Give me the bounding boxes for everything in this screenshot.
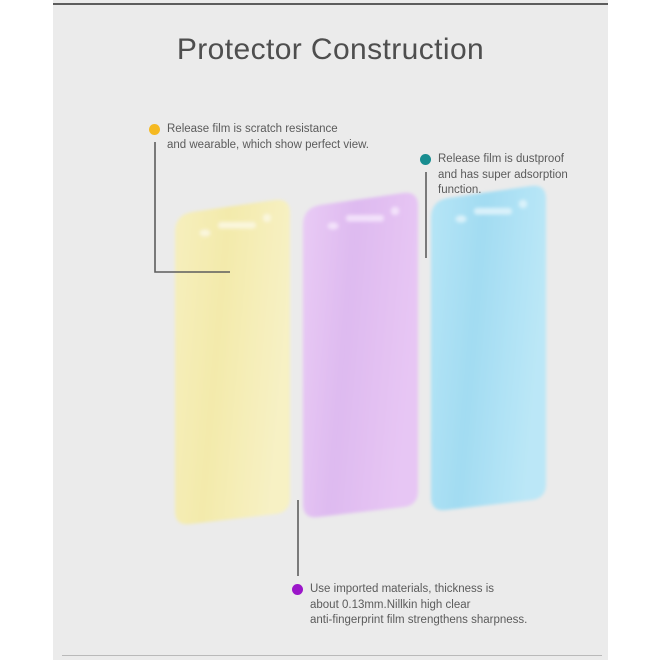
purple-film-layer [303, 193, 418, 517]
yellow-bullet-icon [149, 124, 160, 135]
callout-imported-materials: Use imported materials, thickness is abo… [292, 582, 592, 629]
callout-text: Release film is scratch resistance and w… [167, 122, 369, 153]
screenshot-root: Protector Construction [0, 0, 660, 660]
purple-bullet-icon [292, 584, 303, 595]
teal-bullet-icon [420, 154, 431, 165]
protector-layers-illustration [0, 0, 660, 660]
blue-film-layer [431, 186, 546, 510]
callout-text: Use imported materials, thickness is abo… [310, 582, 527, 629]
callout-release-film-scratch: Release film is scratch resistance and w… [149, 122, 399, 153]
yellow-film-layer [175, 200, 290, 524]
callout-text: Release film is dustproof and has super … [438, 152, 568, 199]
callout-release-film-dustproof: Release film is dustproof and has super … [420, 152, 595, 199]
